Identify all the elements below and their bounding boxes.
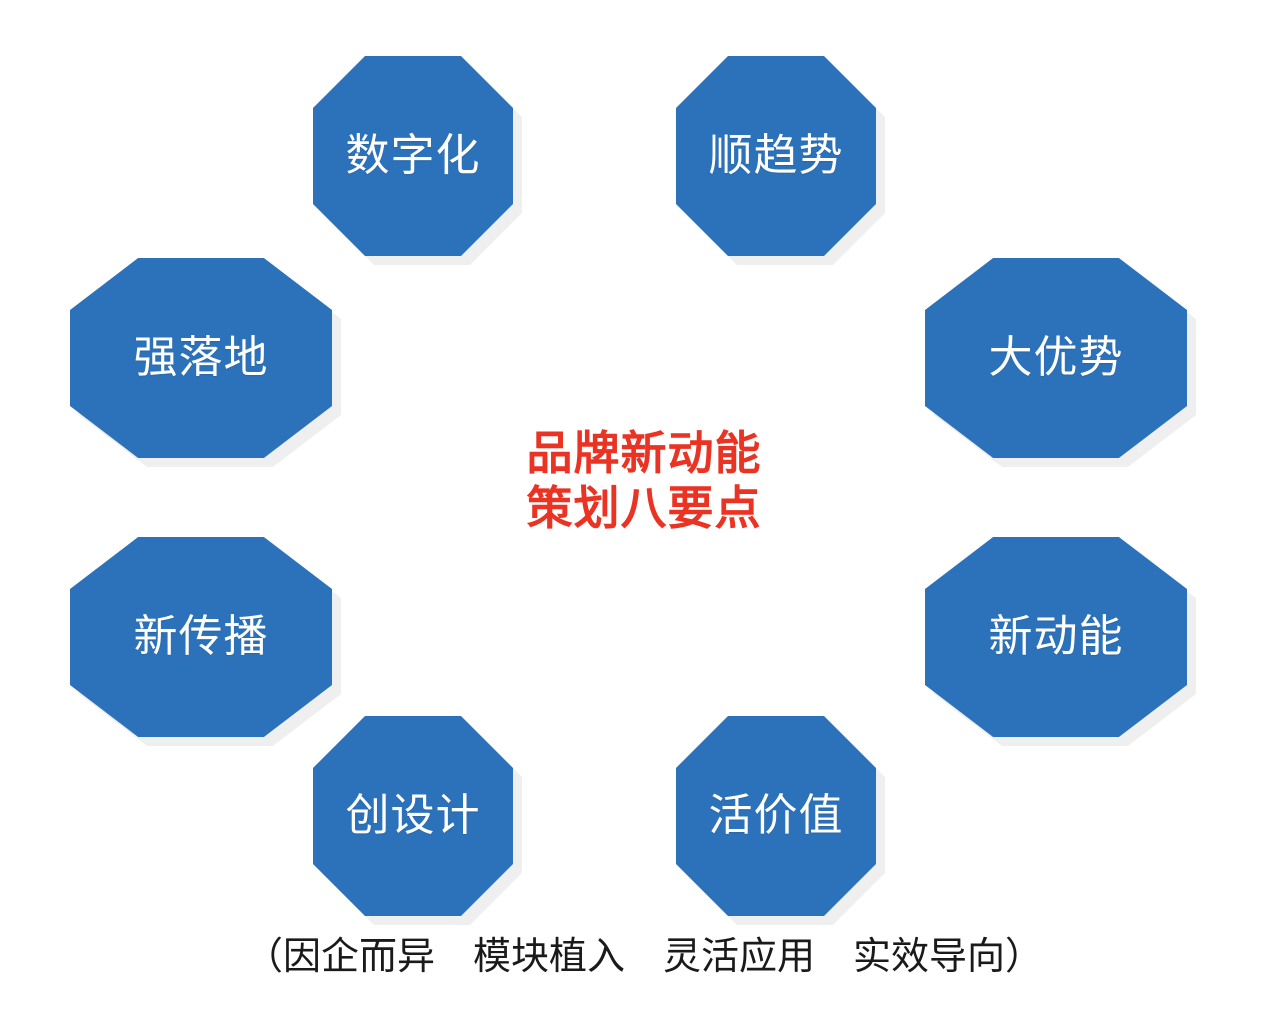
octagon-node-digitalization[interactable]: 数字化	[313, 56, 513, 256]
octagon-node-big-advantage[interactable]: 大优势	[925, 258, 1187, 458]
octagon-label: 新动能	[925, 537, 1187, 737]
octagon-label: 大优势	[925, 258, 1187, 458]
diagram-canvas: 数字化 顺趋势 强落地 大优势 新传播 新动能 创设计 活价值	[0, 0, 1288, 1024]
octagon-label: 活价值	[676, 716, 876, 916]
octagon-node-live-value[interactable]: 活价值	[676, 716, 876, 916]
octagon-node-strong-landing[interactable]: 强落地	[70, 258, 332, 458]
octagon-label: 强落地	[70, 258, 332, 458]
octagon-label: 数字化	[313, 56, 513, 256]
center-title: 品牌新动能 策划八要点	[394, 426, 894, 536]
octagon-label: 创设计	[313, 716, 513, 916]
center-title-line-2: 策划八要点	[394, 481, 894, 536]
octagon-node-follow-trend[interactable]: 顺趋势	[676, 56, 876, 256]
octagon-node-new-momentum[interactable]: 新动能	[925, 537, 1187, 737]
center-title-line-1: 品牌新动能	[394, 426, 894, 481]
octagon-label: 顺趋势	[676, 56, 876, 256]
bottom-caption: （因企而异 模块植入 灵活应用 实效导向）	[0, 932, 1288, 982]
octagon-node-new-spread[interactable]: 新传播	[70, 537, 332, 737]
octagon-label: 新传播	[70, 537, 332, 737]
octagon-node-creative-design[interactable]: 创设计	[313, 716, 513, 916]
